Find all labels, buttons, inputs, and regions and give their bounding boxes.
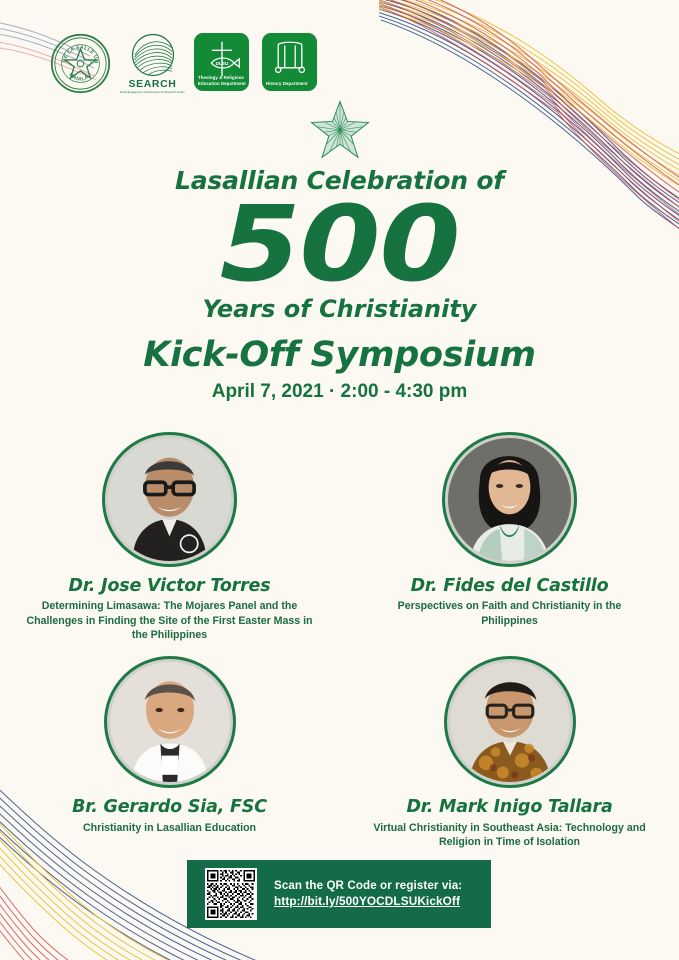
speaker-name-4: Dr. Mark Inigo Tallara	[406, 798, 612, 816]
speaker-topic-4: Virtual Christianity in Southeast Asia: …	[365, 821, 655, 850]
poster-canvas: DE LA SALLE UNIVERSITY MANILA	[0, 0, 679, 960]
search-wordmark: SEARCH	[129, 78, 177, 90]
speaker-topic-1: Determining Limasawa: The Mojares Panel …	[25, 599, 315, 642]
speaker-card-1: Dr. Jose Victor Torres Determining Limas…	[5, 432, 341, 642]
speaker-card-3: Br. Gerardo Sia, FSC Christianity in Las…	[5, 656, 341, 835]
speakers-section: Dr. Jose Victor Torres Determining Limas…	[0, 432, 679, 849]
speaker-photo-fides-del-castillo	[442, 432, 577, 567]
search-center-logo: SEARCH Social Engagement and Advocacy fo…	[124, 33, 181, 95]
speaker-name-2: Dr. Fides del Castillo	[411, 577, 609, 595]
cross-and-fish-icon: DLSU	[202, 39, 242, 79]
speaker-photo-mark-inigo-tallara	[444, 656, 576, 788]
registration-instruction: Scan the QR Code or register via:	[274, 878, 462, 894]
partner-logo-row: DE LA SALLE UNIVERSITY MANILA	[50, 33, 317, 99]
headline-number: 500	[0, 195, 679, 295]
speaker-photo-gerardo-sia	[104, 656, 236, 788]
event-datetime: April 7, 2021 · 2:00 - 4:30 pm	[0, 382, 679, 401]
registration-url[interactable]: http://bit.ly/500YOCDLSUKickOff	[274, 894, 462, 910]
theology-department-label: Theology & Religious Education Departmen…	[198, 75, 246, 86]
search-tagline: Social Engagement and Advocacy for Resea…	[120, 91, 185, 94]
event-title: Kick-Off Symposium	[0, 338, 679, 373]
qr-code-image[interactable]	[205, 868, 257, 920]
history-department-logo: History Department	[262, 33, 317, 91]
history-department-label: History Department	[266, 81, 314, 86]
speaker-photo-jose-victor-torres	[102, 432, 237, 567]
speakers-row-2: Br. Gerardo Sia, FSC Christianity in Las…	[0, 656, 679, 849]
speaker-card-4: Dr. Mark Inigo Tallara Virtual Christian…	[341, 656, 675, 849]
search-swoosh-icon	[128, 33, 178, 77]
striped-star-decoration	[0, 100, 679, 160]
svg-text:DLSU: DLSU	[215, 61, 228, 66]
star-icon	[309, 100, 371, 160]
open-scroll-icon	[270, 39, 310, 77]
headline-block: Lasallian Celebration of 500 Years of Ch…	[0, 168, 679, 401]
speakers-row-1: Dr. Jose Victor Torres Determining Limas…	[0, 432, 679, 642]
registration-text: Scan the QR Code or register via: http:/…	[274, 878, 462, 910]
dlsu-seal-logo: DE LA SALLE UNIVERSITY MANILA	[50, 33, 111, 99]
speaker-topic-2: Perspectives on Faith and Christianity i…	[395, 599, 625, 628]
registration-banner: Scan the QR Code or register via: http:/…	[187, 860, 491, 928]
speaker-name-3: Br. Gerardo Sia, FSC	[72, 798, 267, 816]
speaker-card-2: Dr. Fides del Castillo Perspectives on F…	[341, 432, 675, 628]
dlsu-seal-icon: DE LA SALLE UNIVERSITY MANILA	[50, 33, 111, 94]
speaker-topic-3: Christianity in Lasallian Education	[83, 821, 256, 835]
theology-department-logo: DLSU Theology & Religious Education Depa…	[194, 33, 249, 91]
speaker-name-1: Dr. Jose Victor Torres	[69, 577, 271, 595]
